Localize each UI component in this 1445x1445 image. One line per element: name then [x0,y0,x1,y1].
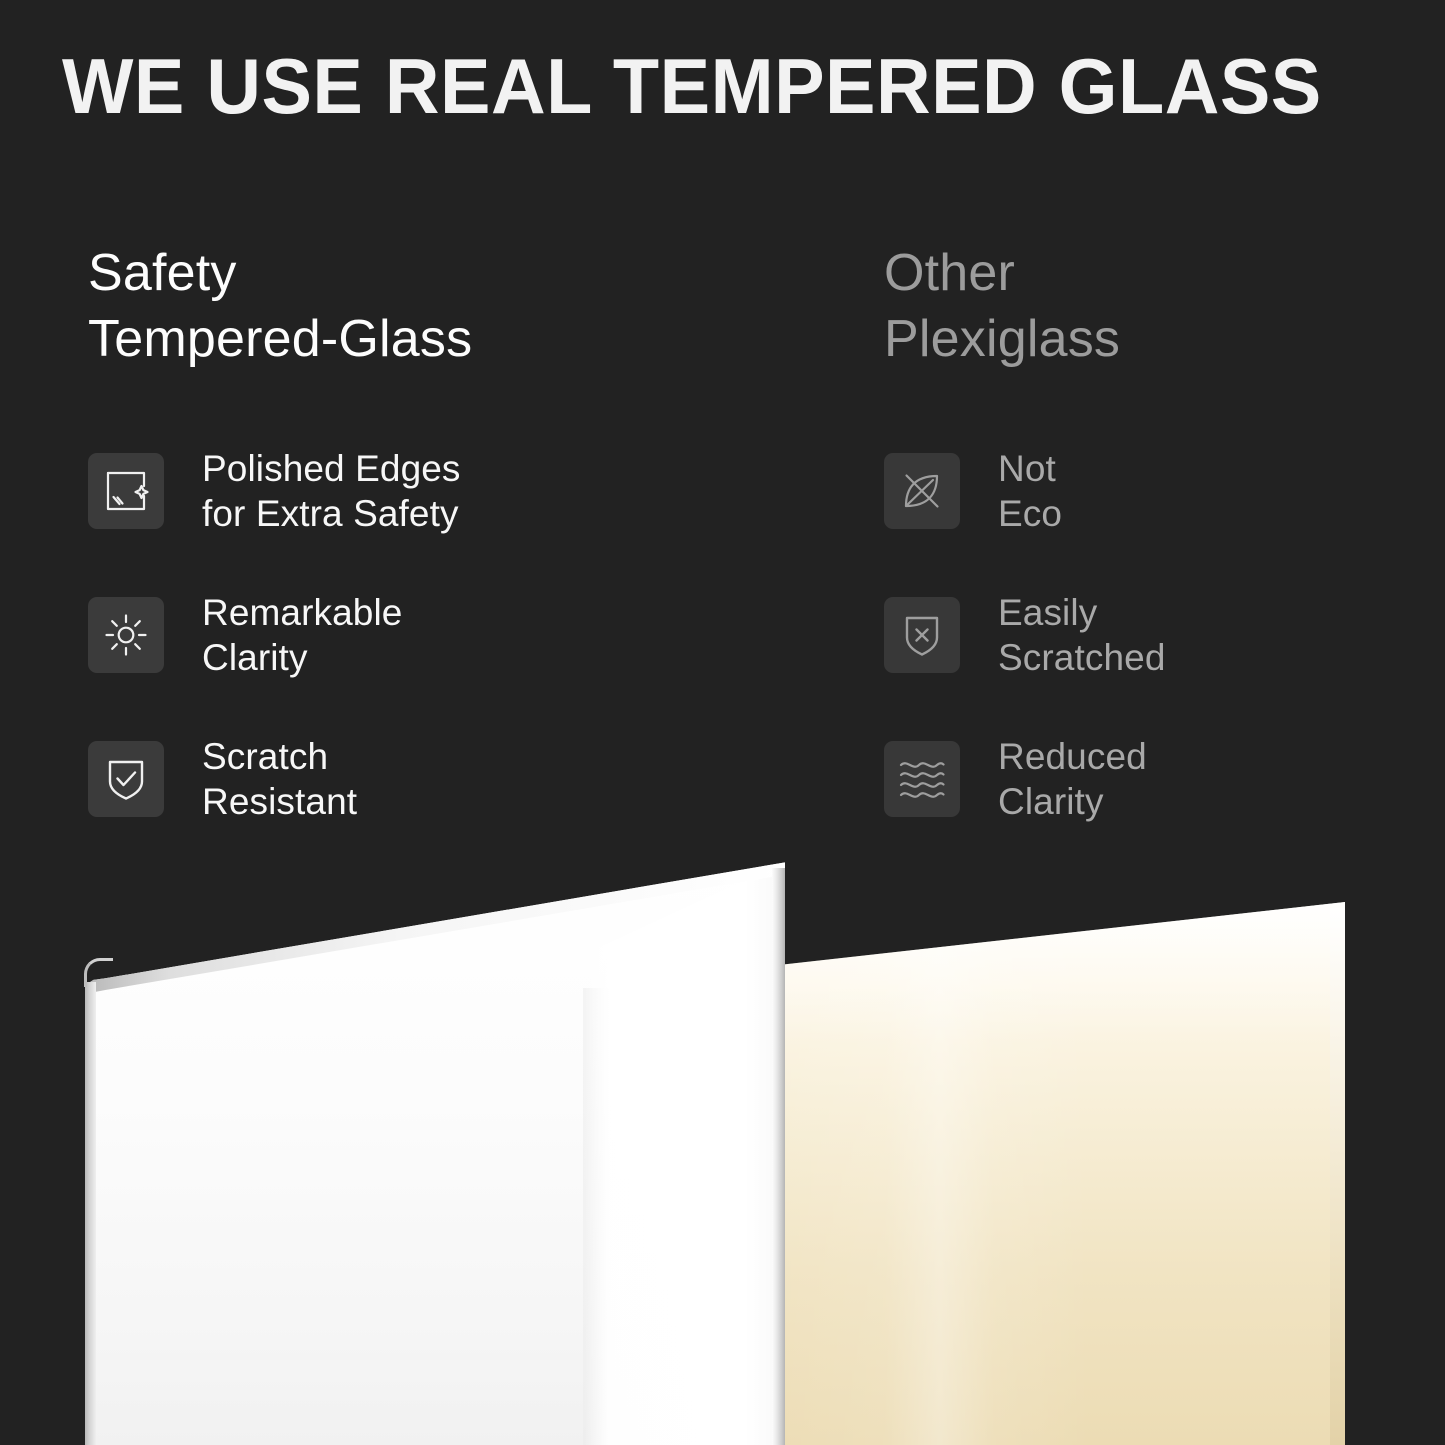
wavy-lines-distortion-icon [884,741,960,817]
column-heading-other: Other Plexiglass [884,240,1424,372]
tempered-glass-rounded-corner [84,958,113,987]
leaf-crossed-out-icon [884,453,960,529]
feature-polished-edges: Polished Edges for Extra Safety [88,450,808,532]
feature-label-line2: for Extra Safety [202,491,461,536]
feature-label-line1: Scratch [202,734,357,779]
column-heading-safety: Safety Tempered-Glass [88,240,808,372]
column-heading-line1: Other [884,240,1424,306]
feature-label-reduced-clarity: Reduced Clarity [998,734,1147,824]
shield-check-icon [88,741,164,817]
shield-x-icon [884,597,960,673]
feature-label-not-eco: Not Eco [998,446,1062,536]
feature-label-remarkable-clarity: Remarkable Clarity [202,590,402,680]
feature-list-plexiglass: Not Eco Easily Scratched [884,450,1424,820]
feature-label-easily-scratched: Easily Scratched [998,590,1166,680]
tempered-glass-right-edge [772,868,785,1445]
column-safety-tempered-glass: Safety Tempered-Glass Polished Edges for [88,240,808,372]
sun-clarity-icon [88,597,164,673]
page-title: WE USE REAL TEMPERED GLASS [62,38,1362,134]
feature-label-line1: Remarkable [202,590,402,635]
plexiglass-panel-right-edge [1330,908,1345,1445]
feature-label-line1: Not [998,446,1062,491]
feature-label-line1: Polished Edges [202,446,461,491]
column-heading-line1: Safety [88,240,808,306]
feature-label-line2: Clarity [998,779,1147,824]
feature-easily-scratched: Easily Scratched [884,594,1424,676]
feature-not-eco: Not Eco [884,450,1424,532]
column-heading-line2: Tempered-Glass [88,306,808,372]
feature-list-safety: Polished Edges for Extra Safety [88,450,808,820]
feature-label-line1: Reduced [998,734,1147,779]
feature-scratch-resistant: Scratch Resistant [88,738,808,820]
feature-remarkable-clarity: Remarkable Clarity [88,594,808,676]
column-heading-line2: Plexiglass [884,306,1424,372]
tempered-glass-left-edge [85,982,96,1445]
column-other-plexiglass: Other Plexiglass Not Eco [884,240,1424,372]
tempered-glass-highlight-band [585,860,785,1445]
polished-glass-pane-sparkle-icon [88,453,164,529]
feature-label-line2: Clarity [202,635,402,680]
feature-label-line2: Eco [998,491,1062,536]
comparison-infographic: WE USE REAL TEMPERED GLASS Safety Temper… [0,0,1445,1445]
feature-reduced-clarity: Reduced Clarity [884,738,1424,820]
feature-label-scratch-resistant: Scratch Resistant [202,734,357,824]
feature-label-polished-edges: Polished Edges for Extra Safety [202,446,461,536]
feature-label-line2: Resistant [202,779,357,824]
feature-label-line2: Scratched [998,635,1166,680]
feature-label-line1: Easily [998,590,1166,635]
glass-panels-illustration [0,840,1445,1445]
plexiglass-panel-top-glow [740,902,1345,1445]
